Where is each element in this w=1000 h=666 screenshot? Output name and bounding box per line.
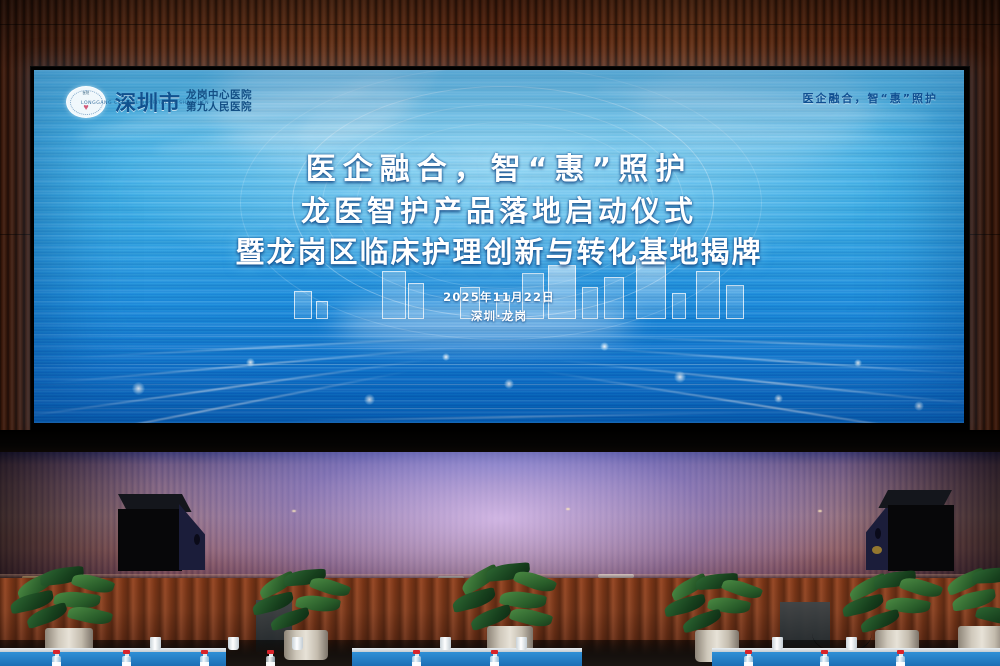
paper-cup[interactable] bbox=[516, 637, 527, 650]
event-location: 深圳·龙岗 bbox=[34, 307, 964, 326]
monitor-handle bbox=[875, 528, 881, 539]
paper-cup[interactable] bbox=[150, 637, 161, 650]
headline-line-2: 龙医智护产品落地启动仪式 bbox=[34, 191, 964, 232]
hospital-name-line1: 龙岗中心医院 bbox=[186, 90, 252, 101]
table-skirt bbox=[0, 652, 226, 666]
potted-plant bbox=[250, 570, 362, 660]
bottle-label bbox=[896, 662, 905, 666]
bottle-label bbox=[744, 662, 753, 666]
hospital-name-english: LONGGANG CENTRAL HOSPITAL OF SHENZHEN bbox=[81, 101, 209, 106]
monitor-connector bbox=[872, 546, 882, 554]
led-screen[interactable]: 医院 ♥ 深圳市 龙岗中心医院 第九人民医院 LONGGANG CENTRAL … bbox=[34, 70, 964, 423]
seal-top-text: 医院 bbox=[67, 90, 105, 95]
table-skirt bbox=[352, 652, 582, 666]
stage-monitor-speaker-right[interactable] bbox=[866, 490, 958, 572]
screen-tagline-top-right: 医企融合，智“惠”照护 bbox=[803, 90, 938, 106]
wall-top-shadow bbox=[0, 0, 1000, 70]
event-meta: 2025年11月22日 深圳·龙岗 bbox=[34, 288, 964, 326]
stage-scene: 医院 ♥ 深圳市 龙岗中心医院 第九人民医院 LONGGANG CENTRAL … bbox=[0, 0, 1000, 666]
bottle-label bbox=[200, 662, 209, 666]
floor-sparkle bbox=[292, 510, 296, 512]
potted-plant bbox=[452, 566, 568, 660]
wall-seam bbox=[0, 24, 1000, 25]
potted-plant bbox=[10, 568, 128, 660]
monitor-handle bbox=[194, 534, 200, 545]
stage-monitor-speaker-left[interactable] bbox=[118, 494, 206, 572]
monitor-side bbox=[179, 504, 205, 570]
table-skirt bbox=[712, 652, 1000, 666]
monitor-face bbox=[118, 509, 182, 571]
bottle-label bbox=[52, 662, 61, 666]
plant-pot bbox=[284, 630, 328, 660]
event-headline: 医企融合，智“惠”照护 龙医智护产品落地启动仪式 暨龙岗区临床护理创新与转化基地… bbox=[34, 150, 964, 273]
paper-cup[interactable] bbox=[846, 637, 857, 650]
bottle-label bbox=[820, 662, 829, 666]
headline-line-1: 医企融合，智“惠”照护 bbox=[34, 150, 964, 191]
bottle-label bbox=[266, 662, 275, 666]
headline-line-3: 暨龙岗区临床护理创新与转化基地揭牌 bbox=[34, 232, 964, 273]
bottle-label bbox=[122, 662, 131, 666]
potted-plant bbox=[946, 568, 1000, 660]
event-date: 2025年11月22日 bbox=[34, 288, 964, 307]
paper-cup[interactable] bbox=[228, 637, 239, 650]
paper-cup[interactable] bbox=[772, 637, 783, 650]
paper-cup[interactable] bbox=[292, 637, 303, 650]
screen-content: 医院 ♥ 深圳市 龙岗中心医院 第九人民医院 LONGGANG CENTRAL … bbox=[34, 70, 964, 423]
bottle-label bbox=[490, 662, 499, 666]
monitor-face bbox=[888, 505, 954, 571]
floor-sparkle bbox=[566, 508, 570, 510]
paper-cup[interactable] bbox=[440, 637, 451, 650]
bottle-label bbox=[412, 662, 421, 666]
floor-sparkle bbox=[818, 510, 822, 512]
